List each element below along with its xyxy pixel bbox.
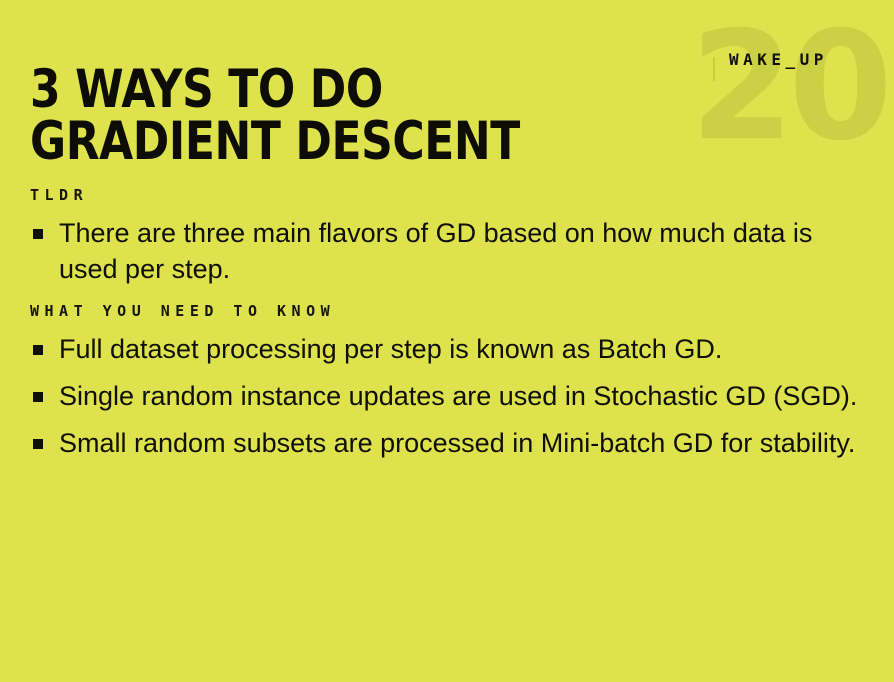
content-body: TLDR There are three main flavors of GD … [0, 186, 894, 462]
list-item-text: There are three main flavors of GD based… [59, 216, 864, 288]
square-bullet-icon [33, 439, 43, 449]
section-label-what-you-need-to-know: WHAT YOU NEED TO KNOW [30, 302, 864, 320]
list-item: There are three main flavors of GD based… [30, 216, 864, 288]
slide-canvas: 20 WAKE_UP 3 WAYS TO DO GRADIENT DESCENT… [0, 0, 894, 682]
bullet-list-what-you-need-to-know: Full dataset processing per step is know… [30, 332, 864, 462]
list-item: Single random instance updates are used … [30, 379, 864, 415]
section-what-you-need-to-know: WHAT YOU NEED TO KNOW Full dataset proce… [0, 302, 894, 462]
brand-block: 20 WAKE_UP [684, 0, 894, 165]
list-item: Small random subsets are processed in Mi… [30, 426, 864, 462]
page-title: 3 WAYS TO DO GRADIENT DESCENT [30, 64, 578, 169]
brand-name-label: WAKE_UP [729, 50, 828, 69]
square-bullet-icon [33, 345, 43, 355]
brand-watermark-number: 20 [690, 12, 887, 162]
page-title-line-2: GRADIENT DESCENT [30, 116, 578, 168]
list-item: Full dataset processing per step is know… [30, 332, 864, 368]
list-item-text: Small random subsets are processed in Mi… [59, 426, 864, 462]
list-item-text: Full dataset processing per step is know… [59, 332, 864, 368]
list-item-text: Single random instance updates are used … [59, 379, 864, 415]
bullet-list-tldr: There are three main flavors of GD based… [30, 216, 864, 288]
page-title-line-1: 3 WAYS TO DO [30, 64, 578, 116]
square-bullet-icon [33, 229, 43, 239]
section-label-tldr: TLDR [30, 186, 864, 204]
section-tldr: TLDR There are three main flavors of GD … [0, 186, 894, 288]
brand-tick-mark [713, 57, 715, 81]
square-bullet-icon [33, 392, 43, 402]
